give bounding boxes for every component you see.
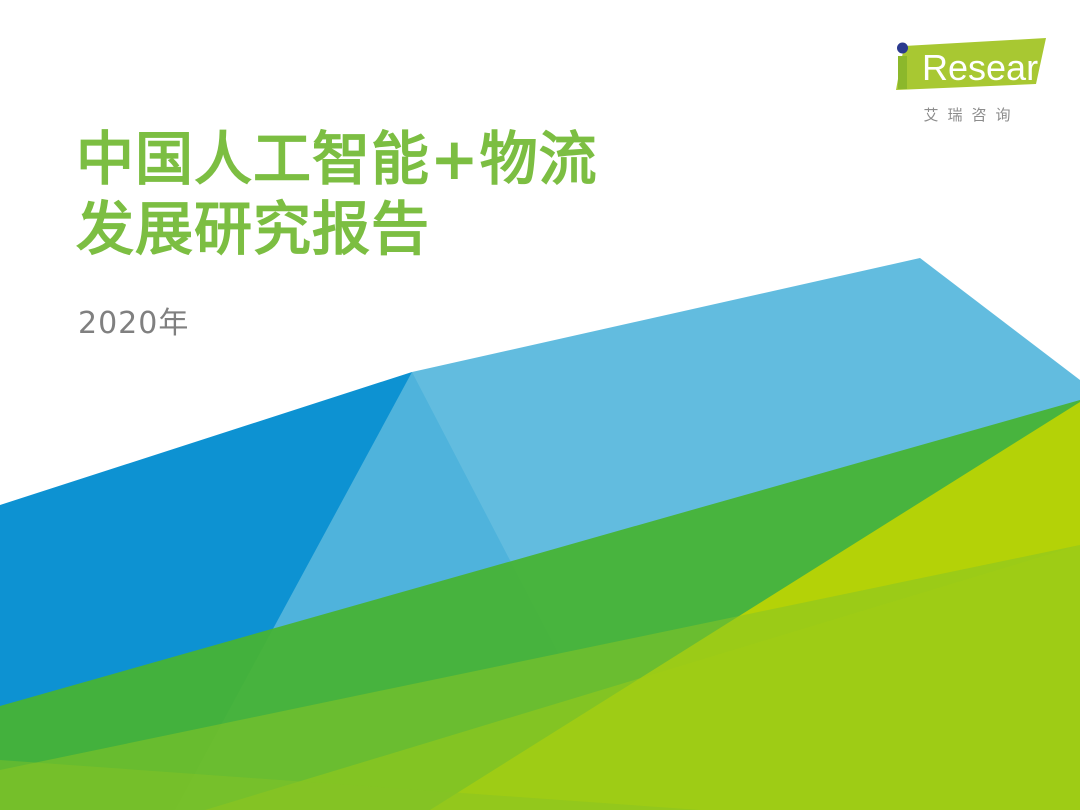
page-title-line-2: 发展研究报告 — [76, 194, 836, 264]
page-title: 中国人工智能+物流 发展研究报告 — [76, 124, 836, 264]
logo-i-stem — [898, 56, 907, 89]
iresearch-logo[interactable]: Research 艾瑞咨询 — [886, 36, 1046, 136]
logo-wordmark: Research — [922, 47, 1046, 88]
report-cover-slide: Research 艾瑞咨询 中国人工智能+物流 发展研究报告 2020年 — [0, 0, 1080, 810]
logo-chinese-name: 艾瑞咨询 — [890, 104, 1044, 125]
page-subtitle-year: 2020年 — [78, 298, 189, 342]
page-title-line-1: 中国人工智能+物流 — [76, 124, 836, 194]
logo-i-dot — [897, 43, 908, 54]
iresearch-logo-mark: Research — [886, 36, 1046, 98]
